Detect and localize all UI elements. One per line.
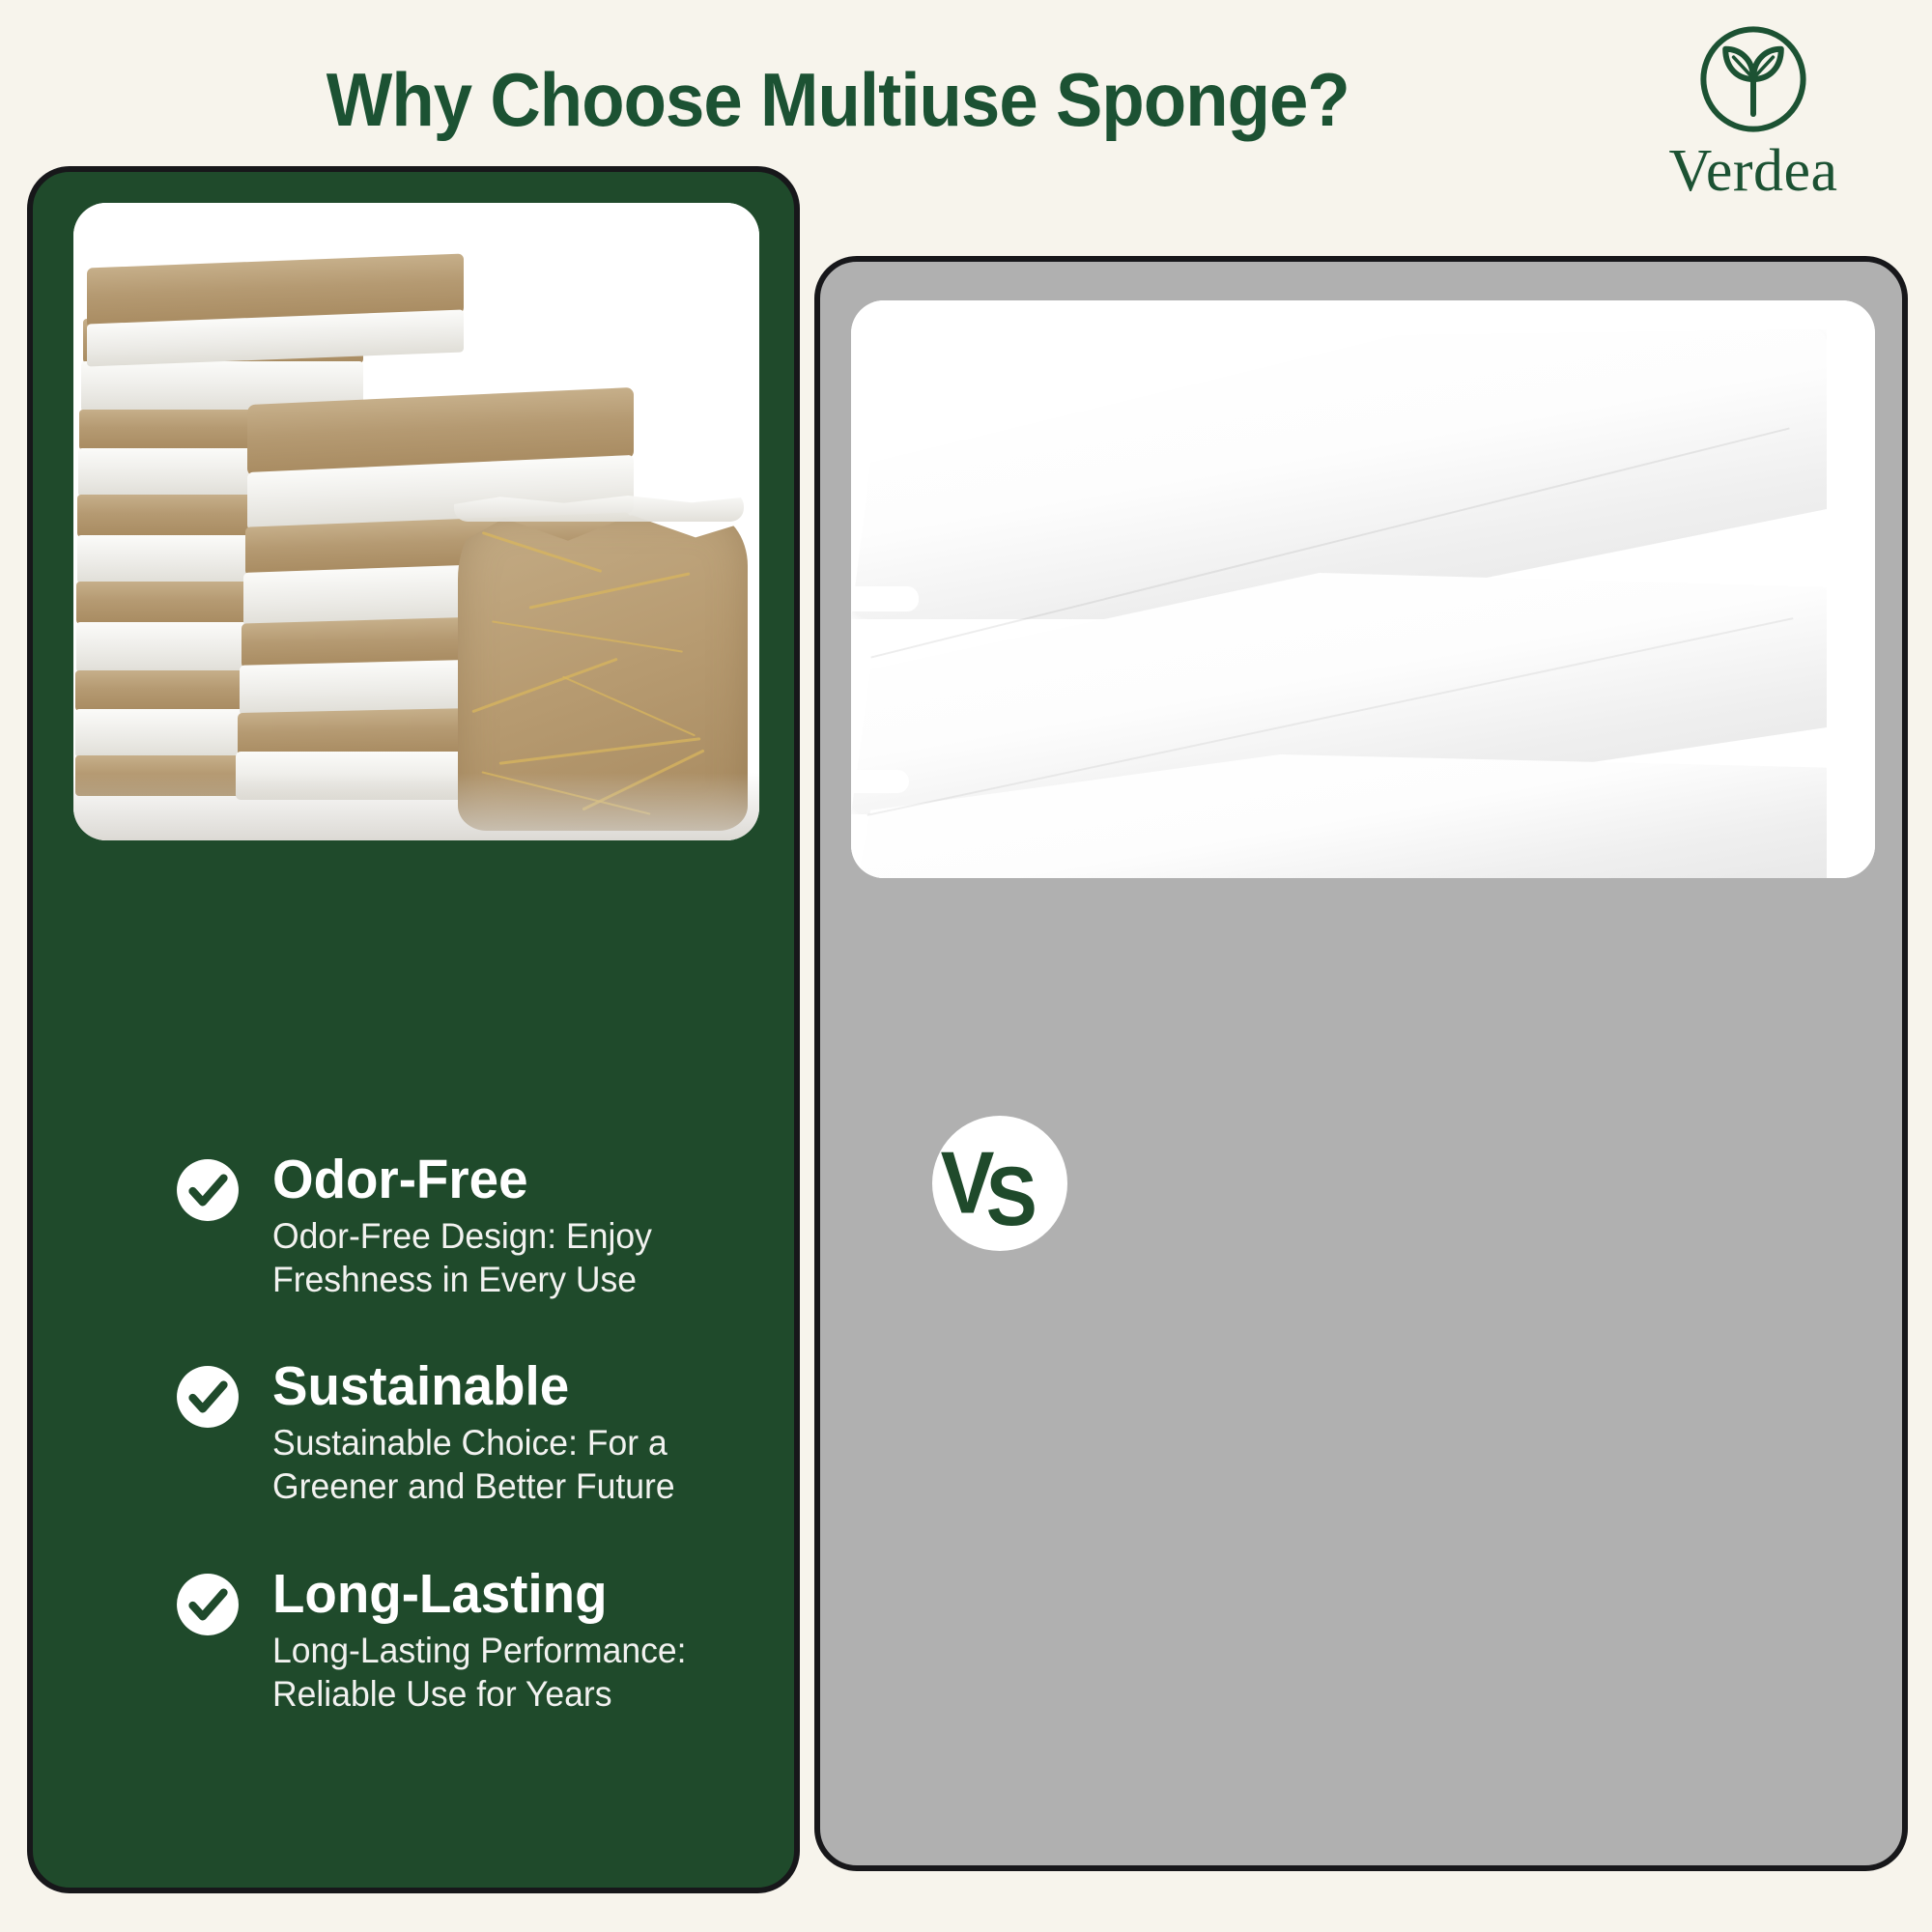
feature-description: Odor-Free Design: Enjoy Freshness in Eve… [272, 1214, 773, 1301]
feature-sustainable: Sustainable Sustainable Choice: For a Gr… [176, 1359, 794, 1508]
feature-odor-free: Odor-Free Odor-Free Design: Enjoy Freshn… [176, 1152, 794, 1301]
svg-text:S: S [986, 1150, 1037, 1243]
infographic-page: Why Choose Multiuse Sponge? Verdea [0, 0, 1932, 1932]
feature-description: Sustainable Choice: For a Greener and Be… [272, 1421, 773, 1508]
left-green-panel: Odor-Free Odor-Free Design: Enjoy Freshn… [27, 166, 800, 1893]
brand-name: Verdea [1642, 141, 1864, 201]
eco-feature-list: Odor-Free Odor-Free Design: Enjoy Freshn… [176, 1152, 794, 1774]
eco-sponge-photo [73, 203, 759, 840]
right-gray-panel: Holds Odor Prone to Odor Retention, Comp… [814, 256, 1908, 1871]
feature-title: Long-Lasting [272, 1567, 773, 1622]
feature-title: Odor-Free [272, 1152, 773, 1207]
plain-foam-sponge-photo [851, 300, 1875, 878]
page-title: Why Choose Multiuse Sponge? [327, 56, 1296, 144]
check-circle-icon [176, 1158, 240, 1222]
check-circle-icon [176, 1365, 240, 1429]
vs-badge: V S [932, 1116, 1067, 1251]
feature-long-lasting: Long-Lasting Long-Lasting Performance: R… [176, 1567, 794, 1716]
sprout-leaves-circle-icon [1695, 21, 1811, 137]
brand-logo: Verdea [1642, 21, 1864, 201]
feature-description: Long-Lasting Performance: Reliable Use f… [272, 1629, 773, 1716]
feature-title: Sustainable [272, 1359, 773, 1414]
check-circle-icon [176, 1573, 240, 1636]
vs-label-icon: V S [932, 1116, 1067, 1251]
